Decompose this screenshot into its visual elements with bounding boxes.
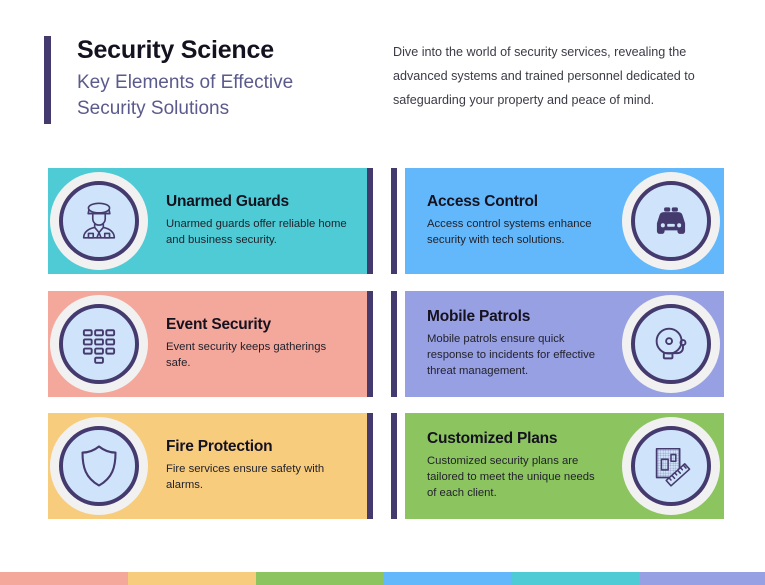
header: Security Science Key Elements of Effecti… [0,0,765,150]
card-title: Fire Protection [166,438,349,457]
service-card[interactable]: Event SecurityEvent security keeps gathe… [48,291,381,397]
card-icon-badge [622,295,720,393]
keypad-icon [59,304,139,384]
card-title: Mobile Patrols [427,308,606,327]
strip-band [384,572,512,585]
card-description: Event security keeps gatherings safe. [166,339,349,372]
card-text: Event SecurityEvent security keeps gathe… [166,316,349,371]
card-text: Access ControlAccess control systems enh… [427,193,606,248]
strip-band [0,572,128,585]
card-text: Unarmed GuardsUnarmed guards offer relia… [166,193,349,248]
card-description: Access control systems enhance security … [427,216,606,249]
card-icon-badge [622,417,720,515]
service-card[interactable]: Mobile PatrolsMobile patrols ensure quic… [391,291,724,397]
card-accent-bar [367,291,373,397]
card-text: Mobile PatrolsMobile patrols ensure quic… [427,308,606,380]
card-text: Fire ProtectionFire services ensure safe… [166,438,349,493]
service-card[interactable]: Customized PlansCustomized security plan… [391,413,724,519]
card-description: Unarmed guards offer reliable home and b… [166,216,349,249]
card-icon-badge [50,172,148,270]
page-subtitle: Key Elements of Effective Security Solut… [77,70,357,122]
service-card[interactable]: Unarmed GuardsUnarmed guards offer relia… [48,168,381,274]
strip-band [256,572,384,585]
card-title: Customized Plans [427,430,606,449]
title-text-group: Security Science Key Elements of Effecti… [51,36,357,124]
card-icon-badge [622,172,720,270]
card-accent-bar [367,168,373,274]
service-card[interactable]: Access ControlAccess control systems enh… [391,168,724,274]
card-icon-badge [50,417,148,515]
card-description: Mobile patrols ensure quick response to … [427,331,606,380]
cards-grid: Unarmed GuardsUnarmed guards offer relia… [0,150,765,540]
car-gate-icon [631,181,711,261]
title-block: Security Science Key Elements of Effecti… [44,36,357,124]
card-accent-bar [391,291,397,397]
card-text: Customized PlansCustomized security plan… [427,430,606,502]
strip-band [512,572,640,585]
security-guard-icon [59,181,139,261]
card-accent-bar [391,413,397,519]
service-card[interactable]: Fire ProtectionFire services ensure safe… [48,413,381,519]
shield-icon [59,426,139,506]
intro-paragraph: Dive into the world of security services… [393,40,725,113]
card-title: Access Control [427,193,606,212]
card-title: Unarmed Guards [166,193,349,212]
blueprint-ruler-icon [631,426,711,506]
bottom-color-strip [0,572,765,585]
card-accent-bar [391,168,397,274]
strip-band [640,572,765,585]
card-accent-bar [367,413,373,519]
card-title: Event Security [166,316,349,335]
title-accent-bar [44,36,51,124]
alarm-bell-icon [631,304,711,384]
page-title: Security Science [77,36,357,65]
card-description: Customized security plans are tailored t… [427,453,606,502]
strip-band [128,572,256,585]
card-icon-badge [50,295,148,393]
card-description: Fire services ensure safety with alarms. [166,461,349,494]
